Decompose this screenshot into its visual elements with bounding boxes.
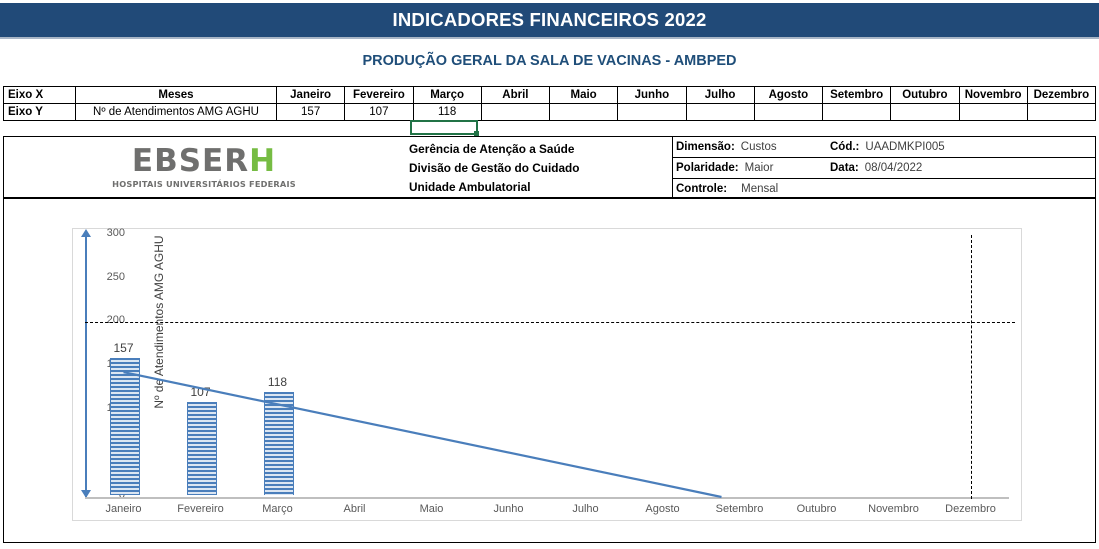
cell-value-setembro[interactable] — [823, 104, 891, 121]
cell-value-dezembro[interactable] — [1027, 104, 1095, 121]
active-cell-selection[interactable] — [410, 120, 478, 135]
cell-eixo-y: Eixo Y — [4, 104, 76, 121]
x-tick-dezembro: Dezembro — [926, 503, 1016, 515]
cell-month-agosto[interactable]: Agosto — [754, 87, 822, 104]
logo-wordmark: EBSERH — [132, 146, 276, 177]
cell-month-abril[interactable]: Abril — [481, 87, 549, 104]
meta-label-cod: Cód.: — [830, 141, 859, 153]
meta-label-data: Data: — [830, 162, 859, 174]
page-title: INDICADORES FINANCEIROS 2022 — [393, 9, 707, 31]
meta-value-dimensao: Custos — [741, 141, 777, 153]
logo-text-gray: EBSER — [132, 143, 249, 179]
org-hierarchy: Gerência de Atenção a Saúde Divisão de G… — [409, 139, 664, 197]
meta-row-dimensao: Dimensão: Custos Cód.: UAADMKPI005 — [672, 137, 1096, 158]
cell-month-janeiro[interactable]: Janeiro — [277, 87, 345, 104]
chart-frame: Nº de Atendimentos AMG AGHU 050100150200… — [3, 198, 1096, 543]
cell-month-dezembro[interactable]: Dezembro — [1027, 87, 1095, 104]
cell-month-julho[interactable]: Julho — [686, 87, 754, 104]
meta-value-polaridade: Maior — [745, 162, 774, 174]
data-table: Eixo X Meses Janeiro Fevereiro Março Abr… — [3, 86, 1096, 121]
cell-value-agosto[interactable] — [754, 104, 822, 121]
cell-value-outubro[interactable] — [891, 104, 959, 121]
meta-label-dimensao: Dimensão: — [676, 141, 735, 153]
cell-meses-header: Meses — [76, 87, 277, 104]
cell-value-marco[interactable]: 118 — [413, 104, 481, 121]
cell-value-julho[interactable] — [686, 104, 754, 121]
org-line-3: Unidade Ambulatorial — [409, 178, 664, 197]
indicator-metadata: Dimensão: Custos Cód.: UAADMKPI005 Polar… — [672, 137, 1096, 197]
cell-month-maio[interactable]: Maio — [550, 87, 618, 104]
meta-label-controle: Controle: — [676, 183, 727, 195]
meta-label-polaridade: Polaridade: — [676, 162, 739, 174]
title-banner: INDICADORES FINANCEIROS 2022 — [0, 3, 1099, 37]
cell-month-outubro[interactable]: Outubro — [891, 87, 959, 104]
cell-month-setembro[interactable]: Setembro — [823, 87, 891, 104]
meta-value-controle: Mensal — [741, 183, 778, 195]
table-row-y: Eixo Y Nº de Atendimentos AMG AGHU 157 1… — [4, 104, 1096, 121]
cell-value-janeiro[interactable]: 157 — [277, 104, 345, 121]
meta-row-controle: Controle: Mensal — [672, 179, 1096, 199]
meta-value-data: 08/04/2022 — [865, 162, 923, 174]
banner-underline — [0, 37, 1099, 39]
cell-month-junho[interactable]: Junho — [618, 87, 686, 104]
cell-value-abril[interactable] — [481, 104, 549, 121]
cell-series-label: Nº de Atendimentos AMG AGHU — [76, 104, 277, 121]
cell-value-novembro[interactable] — [959, 104, 1027, 121]
cell-value-fevereiro[interactable]: 107 — [345, 104, 413, 121]
logo-text-green: H — [249, 143, 276, 179]
org-line-2: Divisão de Gestão do Cuidado — [409, 159, 664, 178]
info-header-band: EBSERH HOSPITAIS UNIVERSITÁRIOS FEDERAIS… — [3, 136, 1096, 198]
cell-eixo-x: Eixo X — [4, 87, 76, 104]
cell-value-junho[interactable] — [618, 104, 686, 121]
cell-month-fevereiro[interactable]: Fevereiro — [345, 87, 413, 104]
chart-plot-area: Nº de Atendimentos AMG AGHU 050100150200… — [72, 228, 1022, 521]
meta-row-polaridade: Polaridade: Maior Data: 08/04/2022 — [672, 158, 1096, 179]
table-row-x: Eixo X Meses Janeiro Fevereiro Março Abr… — [4, 87, 1096, 104]
ebserh-logo: EBSERH HOSPITAIS UNIVERSITÁRIOS FEDERAIS — [4, 137, 404, 197]
org-line-1: Gerência de Atenção a Saúde — [409, 140, 664, 159]
trend-line — [73, 229, 1023, 522]
logo-tagline: HOSPITAIS UNIVERSITÁRIOS FEDERAIS — [112, 179, 296, 189]
chart-subtitle: PRODUÇÃO GERAL DA SALA DE VACINAS - AMBP… — [0, 47, 1099, 75]
cell-month-marco[interactable]: Março — [413, 87, 481, 104]
cell-value-maio[interactable] — [550, 104, 618, 121]
meta-value-cod: UAADMKPI005 — [865, 141, 944, 153]
cell-month-novembro[interactable]: Novembro — [959, 87, 1027, 104]
